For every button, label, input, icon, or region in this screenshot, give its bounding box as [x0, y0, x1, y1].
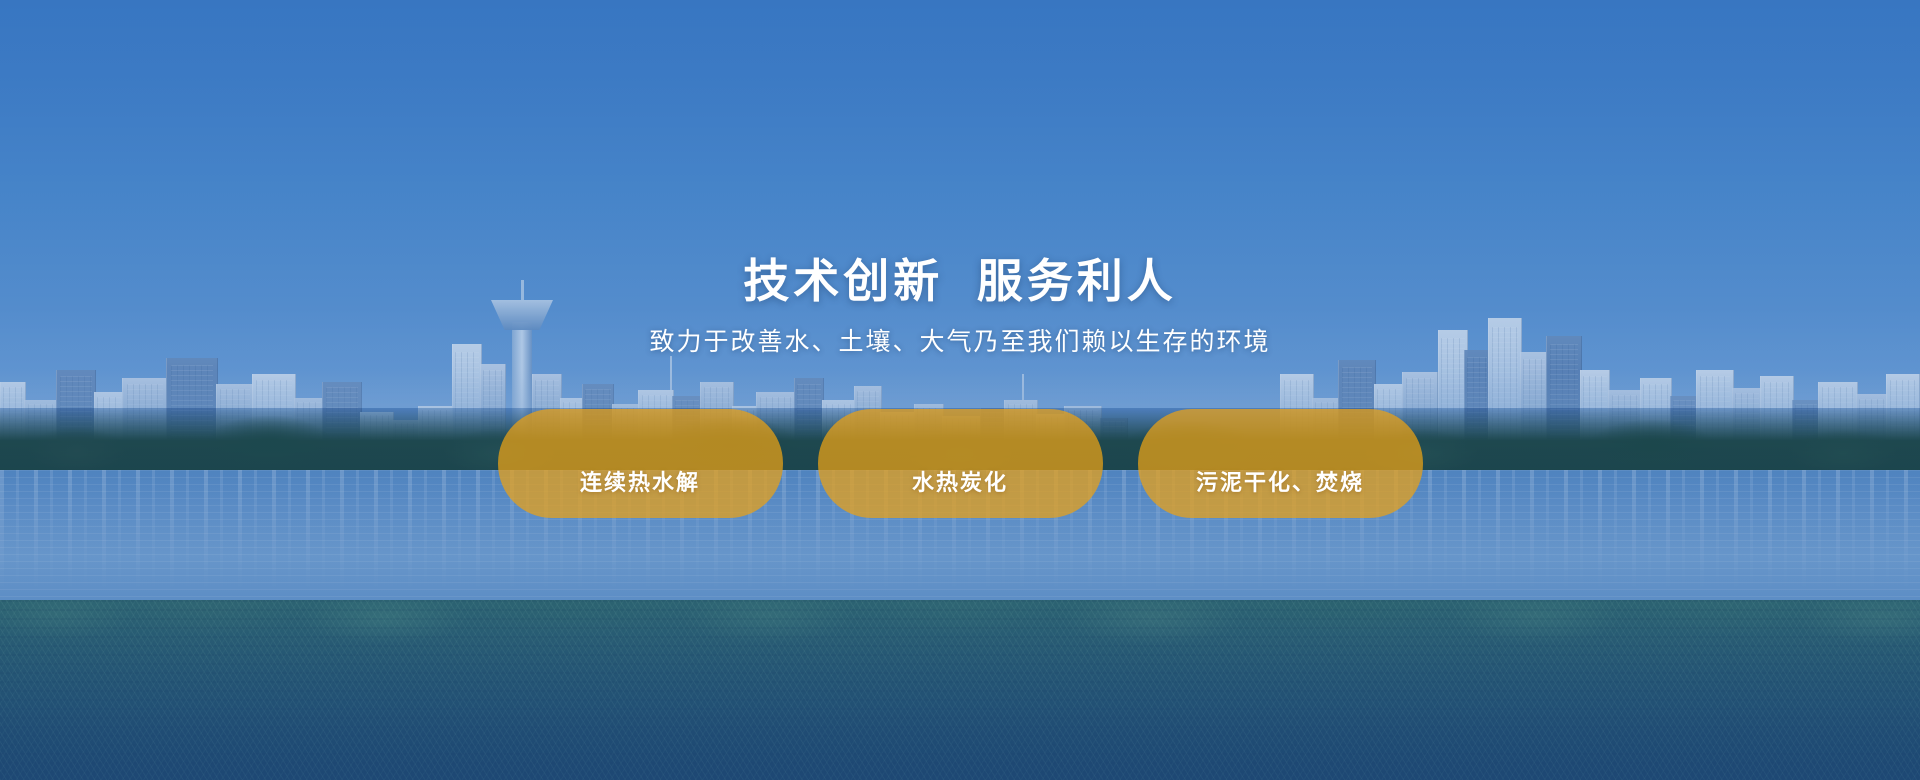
- hero-button-sludge-drying-incineration[interactable]: 污泥干化、焚烧: [1138, 409, 1423, 518]
- hero-banner: 技术创新 服务利人 致力于改善水、土壤、大气乃至我们赖以生存的环境 连续热水解 …: [0, 0, 1920, 780]
- hero-button-label: 水热炭化: [912, 465, 1008, 497]
- hero-content: 技术创新 服务利人 致力于改善水、土壤、大气乃至我们赖以生存的环境 连续热水解 …: [0, 0, 1920, 780]
- hero-subtitle: 致力于改善水、土壤、大气乃至我们赖以生存的环境: [649, 330, 1270, 355]
- hero-button-row: 连续热水解 水热炭化 污泥干化、焚烧: [498, 409, 1423, 518]
- hero-title: 技术创新 服务利人: [743, 258, 1177, 304]
- hero-button-label: 连续热水解: [580, 465, 700, 497]
- hero-button-hydrothermal-carbonization[interactable]: 水热炭化: [818, 409, 1103, 518]
- hero-button-label: 污泥干化、焚烧: [1196, 465, 1364, 497]
- hero-button-continuous-thermal-hydrolysis[interactable]: 连续热水解: [498, 409, 783, 518]
